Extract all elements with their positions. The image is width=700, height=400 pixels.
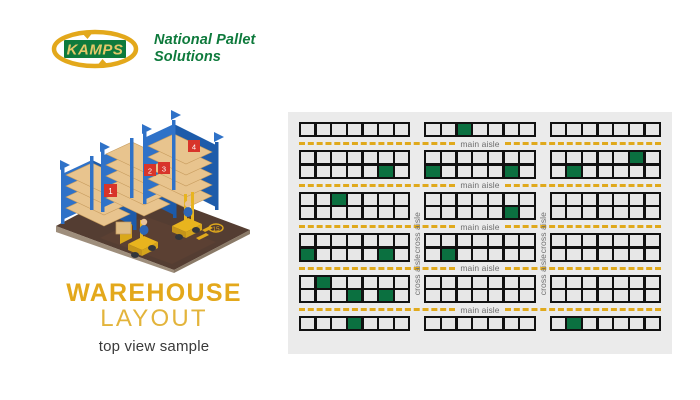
rack-slot-empty[interactable] — [567, 194, 580, 205]
rack-slot-empty[interactable] — [473, 194, 486, 205]
rack-column-left — [299, 316, 410, 331]
rack-slot-empty[interactable] — [348, 249, 361, 260]
rack-slot-empty[interactable] — [301, 277, 314, 288]
rack-slot-empty[interactable] — [379, 318, 392, 329]
rack-slot-empty[interactable] — [364, 152, 377, 163]
rack-slot-empty[interactable] — [614, 152, 627, 163]
rack-band — [299, 192, 661, 221]
rack-row — [301, 152, 408, 163]
rack-row — [301, 235, 408, 246]
rack-slot-empty[interactable] — [646, 290, 659, 301]
rack-slot-empty[interactable] — [505, 290, 518, 301]
rack-slot-empty[interactable] — [364, 249, 377, 260]
rack-slot-empty[interactable] — [473, 124, 486, 135]
main-aisle: main aisle — [299, 137, 661, 150]
rack-slot-empty[interactable] — [567, 235, 580, 246]
rack-slot-empty[interactable] — [520, 318, 533, 329]
rack-column-right — [550, 233, 661, 262]
main-aisle-dash-left — [299, 184, 455, 187]
rack-block[interactable] — [424, 122, 535, 137]
rack-column-right — [550, 316, 661, 331]
rack-slot-empty[interactable] — [317, 152, 330, 163]
main-aisle-dash-left — [299, 225, 455, 228]
rack-slot-occupied[interactable] — [630, 152, 643, 163]
rack-slot-empty[interactable] — [646, 318, 659, 329]
rack-slot-empty[interactable] — [583, 194, 596, 205]
rack-row — [426, 235, 533, 246]
rack-slot-empty[interactable] — [599, 152, 612, 163]
rack-slot-empty[interactable] — [489, 318, 502, 329]
rack-slot-empty[interactable] — [332, 277, 345, 288]
rack-slot-empty[interactable] — [317, 235, 330, 246]
rack-slot-occupied[interactable] — [442, 249, 455, 260]
rack-slot-empty[interactable] — [552, 166, 565, 177]
rack-slot-empty[interactable] — [301, 152, 314, 163]
rack-slot-empty[interactable] — [614, 194, 627, 205]
main-aisle-label: main aisle — [455, 180, 504, 190]
rack-slot-empty[interactable] — [395, 277, 408, 288]
rack-slot-empty[interactable] — [458, 166, 471, 177]
rack-slot-empty[interactable] — [599, 207, 612, 218]
rack-slot-empty[interactable] — [520, 152, 533, 163]
rack-slot-occupied[interactable] — [379, 166, 392, 177]
rack-slot-empty[interactable] — [520, 166, 533, 177]
rack-slot-empty[interactable] — [395, 235, 408, 246]
rack-slot-empty[interactable] — [520, 194, 533, 205]
rack-slot-empty[interactable] — [332, 152, 345, 163]
rack-slot-empty[interactable] — [646, 207, 659, 218]
rack-block[interactable] — [299, 192, 410, 221]
rack-slot-empty[interactable] — [630, 249, 643, 260]
rack-slot-empty[interactable] — [614, 318, 627, 329]
rack-slot-empty[interactable] — [317, 249, 330, 260]
brand-header: KAMPS National Pallet Solutions — [50, 28, 255, 70]
rack-slot-empty[interactable] — [364, 194, 377, 205]
rack-slot-occupied[interactable] — [317, 277, 330, 288]
rack-slot-empty[interactable] — [364, 207, 377, 218]
rack-slot-empty[interactable] — [552, 207, 565, 218]
rack-slot-empty[interactable] — [442, 290, 455, 301]
rack-row — [301, 166, 408, 177]
rack-slot-empty[interactable] — [332, 249, 345, 260]
rack-slot-empty[interactable] — [458, 207, 471, 218]
rack-block[interactable] — [299, 316, 410, 331]
rack-slot-empty[interactable] — [489, 235, 502, 246]
rack-slot-empty[interactable] — [364, 124, 377, 135]
rack-slot-empty[interactable] — [379, 152, 392, 163]
rack-slot-empty[interactable] — [473, 152, 486, 163]
rack-slot-empty[interactable] — [646, 194, 659, 205]
rack-block[interactable] — [550, 192, 661, 221]
rack-slot-empty[interactable] — [552, 318, 565, 329]
rack-slot-empty[interactable] — [473, 249, 486, 260]
rack-slot-empty[interactable] — [395, 318, 408, 329]
rack-slot-empty[interactable] — [520, 235, 533, 246]
main-aisle-dash-left — [299, 267, 455, 270]
rack-slot-empty[interactable] — [552, 124, 565, 135]
rack-slot-empty[interactable] — [505, 124, 518, 135]
rack-block[interactable] — [299, 122, 410, 137]
rack-block[interactable] — [299, 275, 410, 304]
rack-slot-empty[interactable] — [426, 290, 439, 301]
rack-slot-empty[interactable] — [442, 124, 455, 135]
rack-slot-empty[interactable] — [317, 207, 330, 218]
cross-aisle-label-text: cross aisle — [412, 212, 422, 253]
cross-aisle-label-text: cross aisle — [412, 254, 422, 295]
rack-slot-empty[interactable] — [379, 235, 392, 246]
rack-column-middle — [424, 150, 535, 179]
rack-slot-empty[interactable] — [395, 194, 408, 205]
rack-slot-empty[interactable] — [583, 124, 596, 135]
rack-slot-empty[interactable] — [599, 166, 612, 177]
rack-slot-empty[interactable] — [379, 194, 392, 205]
rack-slot-empty[interactable] — [473, 207, 486, 218]
rack-row — [426, 277, 533, 288]
rack-block[interactable] — [424, 316, 535, 331]
rack-slot-empty[interactable] — [583, 235, 596, 246]
diagram-grid: main aislemain aislemain aislecross aisl… — [299, 122, 661, 344]
rack-band — [299, 316, 661, 331]
main-aisle-label: main aisle — [455, 305, 504, 315]
rack-slot-empty[interactable] — [458, 194, 471, 205]
rack-slot-empty[interactable] — [442, 152, 455, 163]
rack-slot-empty[interactable] — [646, 166, 659, 177]
rack-slot-empty[interactable] — [426, 318, 439, 329]
rack-slot-empty[interactable] — [332, 318, 345, 329]
rack-column-middle — [424, 233, 535, 262]
rack-slot-empty[interactable] — [364, 277, 377, 288]
rack-slot-empty[interactable] — [442, 207, 455, 218]
rack-slot-empty[interactable] — [630, 277, 643, 288]
rack-column-right — [550, 122, 661, 137]
rack-slot-empty[interactable] — [395, 290, 408, 301]
rack-slot-empty[interactable] — [364, 318, 377, 329]
rack-slot-empty[interactable] — [552, 152, 565, 163]
rack-slot-empty[interactable] — [473, 166, 486, 177]
rack-slot-empty[interactable] — [332, 235, 345, 246]
rack-slot-empty[interactable] — [552, 194, 565, 205]
rack-slot-empty[interactable] — [614, 207, 627, 218]
rack-slot-empty[interactable] — [583, 207, 596, 218]
rack-slot-empty[interactable] — [489, 166, 502, 177]
rack-block[interactable] — [550, 316, 661, 331]
rack-slot-empty[interactable] — [614, 124, 627, 135]
rack-slot-empty[interactable] — [505, 249, 518, 260]
rack-slot-empty[interactable] — [489, 290, 502, 301]
rack-slot-empty[interactable] — [599, 124, 612, 135]
rack-slot-empty[interactable] — [317, 194, 330, 205]
rack-slot-occupied[interactable] — [567, 166, 580, 177]
rack-slot-empty[interactable] — [646, 235, 659, 246]
rack-slot-empty[interactable] — [364, 290, 377, 301]
rack-slot-empty[interactable] — [583, 166, 596, 177]
main-aisle: main aisle — [299, 220, 661, 233]
rack-slot-empty[interactable] — [505, 194, 518, 205]
rack-slot-empty[interactable] — [364, 166, 377, 177]
rack-column-middle — [424, 192, 535, 221]
rack-slot-empty[interactable] — [301, 166, 314, 177]
rack-slot-empty[interactable] — [599, 249, 612, 260]
rack-slot-occupied[interactable] — [332, 194, 345, 205]
rack-slot-empty[interactable] — [567, 277, 580, 288]
rack-slot-empty[interactable] — [583, 318, 596, 329]
rack-column-left — [299, 192, 410, 221]
main-aisle-dash-right — [505, 184, 661, 187]
rack-row — [301, 249, 408, 260]
rack-slot-empty[interactable] — [599, 318, 612, 329]
rack-column-right — [550, 275, 661, 304]
rack-slot-occupied[interactable] — [348, 318, 361, 329]
rack-slot-empty[interactable] — [473, 235, 486, 246]
rack-slot-empty[interactable] — [520, 249, 533, 260]
rack-slot-empty[interactable] — [458, 290, 471, 301]
rack-slot-empty[interactable] — [301, 235, 314, 246]
rack-slot-empty[interactable] — [395, 249, 408, 260]
main-aisle-dash-left — [299, 308, 455, 311]
rack-slot-empty[interactable] — [505, 318, 518, 329]
brand-tagline-line1: National Pallet — [154, 32, 255, 49]
rack-slot-empty[interactable] — [630, 194, 643, 205]
rack-slot-empty[interactable] — [614, 277, 627, 288]
rack-slot-empty[interactable] — [520, 207, 533, 218]
rack-row — [426, 194, 533, 205]
main-aisle-dash-right — [505, 225, 661, 228]
rack-slot-empty[interactable] — [301, 318, 314, 329]
rack-row — [426, 290, 533, 301]
rack-slot-occupied[interactable] — [458, 124, 471, 135]
rack-slot-empty[interactable] — [332, 290, 345, 301]
rack-slot-empty[interactable] — [301, 290, 314, 301]
rack-slot-empty[interactable] — [379, 124, 392, 135]
page-title: WAREHOUSE — [40, 280, 268, 306]
rack-row — [426, 166, 533, 177]
rack-slot-empty[interactable] — [379, 277, 392, 288]
rack-slot-occupied[interactable] — [567, 318, 580, 329]
rack-band: cross aislecross aisle — [299, 233, 661, 262]
rack-column-left — [299, 275, 410, 304]
rack-column-left — [299, 233, 410, 262]
rack-slot-empty[interactable] — [614, 166, 627, 177]
rack-slot-empty[interactable] — [395, 152, 408, 163]
rack-slot-empty[interactable] — [583, 290, 596, 301]
rack-slot-empty[interactable] — [567, 207, 580, 218]
rack-slot-empty[interactable] — [583, 277, 596, 288]
rack-row — [552, 152, 659, 163]
rack-slot-occupied[interactable] — [301, 249, 314, 260]
rack-row — [552, 318, 659, 329]
rack-slot-occupied[interactable] — [379, 249, 392, 260]
rack-slot-empty[interactable] — [458, 249, 471, 260]
rack-slot-empty[interactable] — [489, 194, 502, 205]
rack-column-right — [550, 192, 661, 221]
rack-slot-empty[interactable] — [489, 207, 502, 218]
rack-slot-empty[interactable] — [332, 166, 345, 177]
rack-slot-empty[interactable] — [426, 152, 439, 163]
main-aisle-dash-right — [505, 308, 661, 311]
rack-slot-empty[interactable] — [332, 124, 345, 135]
rack-slot-empty[interactable] — [630, 235, 643, 246]
main-aisle-label: main aisle — [455, 139, 504, 149]
rack-block[interactable] — [550, 275, 661, 304]
cross-aisle-label-text: cross aisle — [538, 212, 548, 253]
rack-slot-empty[interactable] — [489, 124, 502, 135]
rack-slot-empty[interactable] — [646, 152, 659, 163]
cross-aisle-label-text: cross aisle — [538, 254, 548, 295]
rack-slot-empty[interactable] — [426, 124, 439, 135]
rack-block[interactable] — [550, 233, 661, 262]
rack-slot-empty[interactable] — [426, 235, 439, 246]
rack-slot-empty[interactable] — [473, 290, 486, 301]
main-aisle-dash-right — [505, 142, 661, 145]
rack-slot-empty[interactable] — [520, 290, 533, 301]
rack-slot-empty[interactable] — [489, 277, 502, 288]
rack-slot-occupied[interactable] — [426, 166, 439, 177]
svg-text:15: 15 — [212, 226, 220, 233]
rack-block[interactable] — [550, 150, 661, 179]
rack-slot-empty[interactable] — [630, 290, 643, 301]
rack-row — [552, 277, 659, 288]
rack-block[interactable] — [424, 275, 535, 304]
rack-slot-empty[interactable] — [348, 277, 361, 288]
rack-slot-empty[interactable] — [552, 277, 565, 288]
rack-slot-empty[interactable] — [348, 207, 361, 218]
rack-slot-empty[interactable] — [599, 235, 612, 246]
rack-slot-empty[interactable] — [505, 152, 518, 163]
rack-slot-empty[interactable] — [583, 249, 596, 260]
rack-slot-empty[interactable] — [567, 249, 580, 260]
rack-slot-empty[interactable] — [317, 166, 330, 177]
rack-block[interactable] — [299, 150, 410, 179]
rack-block[interactable] — [424, 150, 535, 179]
rack-slot-empty[interactable] — [458, 318, 471, 329]
rack-slot-empty[interactable] — [301, 194, 314, 205]
rack-slot-empty[interactable] — [317, 318, 330, 329]
rack-slot-occupied[interactable] — [505, 166, 518, 177]
rack-slot-empty[interactable] — [395, 207, 408, 218]
rack-column-left — [299, 122, 410, 137]
rack-slot-empty[interactable] — [567, 290, 580, 301]
band-spacer — [299, 331, 661, 337]
rack-row — [301, 124, 408, 135]
rack-slot-empty[interactable] — [583, 152, 596, 163]
rack-slot-empty[interactable] — [442, 194, 455, 205]
rack-slot-empty[interactable] — [599, 290, 612, 301]
rack-slot-empty[interactable] — [614, 249, 627, 260]
main-aisle-dash-right — [505, 267, 661, 270]
rack-band — [299, 150, 661, 179]
rack-slot-empty[interactable] — [614, 235, 627, 246]
rack-row — [301, 207, 408, 218]
rack-slot-empty[interactable] — [630, 124, 643, 135]
rack-slot-empty[interactable] — [552, 235, 565, 246]
rack-slot-empty[interactable] — [646, 277, 659, 288]
rack-slot-empty[interactable] — [630, 318, 643, 329]
rack-slot-empty[interactable] — [646, 124, 659, 135]
rack-slot-empty[interactable] — [332, 207, 345, 218]
rack-slot-empty[interactable] — [426, 249, 439, 260]
rack-slot-empty[interactable] — [599, 277, 612, 288]
rack-slot-empty[interactable] — [348, 124, 361, 135]
rack-block[interactable] — [550, 122, 661, 137]
rack-slot-empty[interactable] — [426, 277, 439, 288]
rack-slot-empty[interactable] — [630, 166, 643, 177]
rack-slot-empty[interactable] — [630, 207, 643, 218]
rack-slot-empty[interactable] — [442, 277, 455, 288]
rack-slot-empty[interactable] — [426, 207, 439, 218]
rack-slot-empty[interactable] — [646, 249, 659, 260]
rack-slot-empty[interactable] — [317, 124, 330, 135]
rack-band: cross aislecross aisle — [299, 275, 661, 304]
rack-slot-occupied[interactable] — [379, 290, 392, 301]
rack-slot-empty[interactable] — [489, 249, 502, 260]
rack-slot-empty[interactable] — [426, 194, 439, 205]
rack-slot-empty[interactable] — [567, 124, 580, 135]
rack-slot-empty[interactable] — [458, 235, 471, 246]
rack-slot-empty[interactable] — [567, 152, 580, 163]
rack-block[interactable] — [299, 233, 410, 262]
rack-slot-empty[interactable] — [442, 318, 455, 329]
kamps-oval-arrow-logo: KAMPS — [50, 28, 140, 70]
rack-column-middle — [424, 316, 535, 331]
rack-row — [552, 207, 659, 218]
rack-slot-empty[interactable] — [458, 152, 471, 163]
rack-slot-occupied[interactable] — [348, 290, 361, 301]
isometric-warehouse-racking-illustration: 1 2 3 4 — [40, 108, 265, 273]
svg-text:1: 1 — [108, 187, 113, 196]
rack-slot-empty[interactable] — [348, 194, 361, 205]
rack-slot-empty[interactable] — [301, 124, 314, 135]
rack-block[interactable] — [424, 192, 535, 221]
rack-slot-empty[interactable] — [395, 124, 408, 135]
rack-slot-empty[interactable] — [364, 235, 377, 246]
rack-band — [299, 122, 661, 137]
rack-slot-empty[interactable] — [473, 277, 486, 288]
rack-slot-empty[interactable] — [552, 290, 565, 301]
page-subtitle: LAYOUT — [40, 306, 268, 333]
rack-slot-empty[interactable] — [442, 235, 455, 246]
rack-slot-empty[interactable] — [473, 318, 486, 329]
brand-tagline: National Pallet Solutions — [154, 32, 255, 66]
main-aisle: main aisle — [299, 303, 661, 316]
main-aisle-label: main aisle — [455, 222, 504, 232]
rack-slot-occupied[interactable] — [505, 207, 518, 218]
rack-slot-empty[interactable] — [395, 166, 408, 177]
rack-slot-empty[interactable] — [552, 249, 565, 260]
main-aisle-label: main aisle — [455, 263, 504, 273]
rack-slot-empty[interactable] — [301, 207, 314, 218]
rack-slot-empty[interactable] — [348, 152, 361, 163]
rack-slot-empty[interactable] — [348, 235, 361, 246]
rack-slot-empty[interactable] — [442, 166, 455, 177]
rack-slot-empty[interactable] — [348, 166, 361, 177]
rack-slot-empty[interactable] — [317, 290, 330, 301]
rack-row — [552, 290, 659, 301]
title-block: WAREHOUSE LAYOUT top view sample — [40, 280, 268, 355]
rack-slot-empty[interactable] — [505, 235, 518, 246]
rack-slot-empty[interactable] — [505, 277, 518, 288]
rack-slot-empty[interactable] — [520, 124, 533, 135]
rack-block[interactable] — [424, 233, 535, 262]
rack-slot-empty[interactable] — [520, 277, 533, 288]
rack-slot-empty[interactable] — [379, 207, 392, 218]
rack-slot-empty[interactable] — [614, 290, 627, 301]
rack-row — [301, 194, 408, 205]
rack-slot-empty[interactable] — [599, 194, 612, 205]
rack-slot-empty[interactable] — [489, 152, 502, 163]
rack-column-middle — [424, 275, 535, 304]
rack-slot-empty[interactable] — [458, 277, 471, 288]
rack-row — [426, 124, 533, 135]
